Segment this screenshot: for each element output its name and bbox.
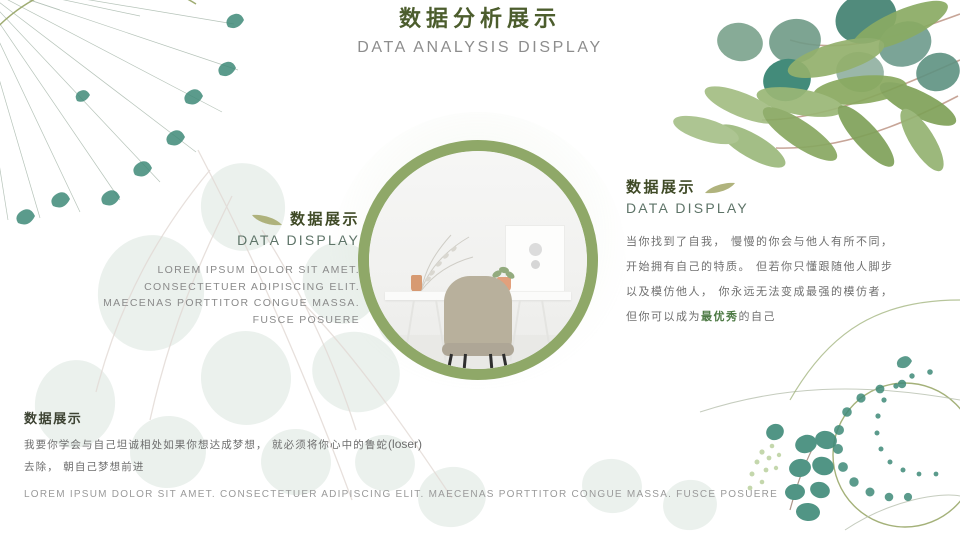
left-heading-row: 数据展示 [100,210,360,230]
right-heading-row: 数据展示 [626,178,936,198]
right-body-text: 当你找到了自我， 慢慢的你会与他人有所不同， 开始拥有自己的特质。 但若你只懂跟… [626,229,936,329]
left-body-line: CONSECTETUER ADIPISCING ELIT. [100,279,360,296]
bottom-body-text: 我要你学会与自己坦诚相处如果你想达成梦想， 就必须将你心中的鲁蛇(loser) … [24,433,584,478]
terracotta-vase [411,275,422,292]
right-body-line: 开始拥有自己的特质。 但若你只懂跟随他人脚步 [626,254,936,279]
photo-scene [369,151,587,369]
left-body-line: LOREM IPSUM DOLOR SIT AMET. [100,262,360,279]
right-heading-chinese: 数据展示 [626,178,696,198]
title-chinese: 数据分析展示 [0,6,960,34]
bottom-body-line-1: 我要你学会与自己坦诚相处如果你想达成梦想， 就必须将你心中的鲁蛇(loser) [24,433,584,456]
slide-title: 数据分析展示 DATA ANALYSIS DISPLAY [0,6,960,57]
bottom-heading-chinese: 数据展示 [24,408,584,427]
left-text-block: 数据展示 DATA DISPLAY LOREM IPSUM DOLOR SIT … [100,210,360,328]
frame-dot-large [529,243,542,256]
right-text-block: 数据展示 DATA DISPLAY 当你找到了自我， 慢慢的你会与他人有所不同，… [626,178,936,329]
bottom-body-line-2: 去除， 朝自己梦想前进 [24,456,584,478]
small-eucalyptus-sprig [748,421,839,522]
left-body-line: FUSCE POSUERE [100,312,360,329]
left-heading-chinese: 数据展示 [290,210,360,230]
frame-dot-small [531,260,540,269]
right-heading-english: DATA DISPLAY [626,199,936,218]
slide-canvas: 数据分析展示 DATA ANALYSIS DISPLAY 数据展示 DATA D… [0,0,960,540]
leaf-accent-icon [703,180,737,196]
left-heading-english: DATA DISPLAY [100,231,360,250]
left-body-text: LOREM IPSUM DOLOR SIT AMET. CONSECTETUER… [100,262,360,328]
last-line-highlight: 最优秀 [701,310,739,323]
title-english: DATA ANALYSIS DISPLAY [0,38,960,57]
right-body-line-last: 但你可以成为最优秀的自己 [626,304,936,329]
footer-text: LOREM IPSUM DOLOR SIT AMET. CONSECTETUER… [24,488,924,502]
left-body-line: MAECENAS PORTTITOR CONGUE MASSA. [100,295,360,312]
center-circular-photo[interactable] [358,140,598,380]
right-body-line: 以及模仿他人， 你永远无法变成最强的模仿者， [626,279,936,304]
bottom-line1-latin: (loser) [388,437,422,451]
bottom-left-text-block: 数据展示 我要你学会与自己坦诚相处如果你想达成梦想， 就必须将你心中的鲁蛇(lo… [24,408,584,478]
right-body-line: 当你找到了自我， 慢慢的你会与他人有所不同， [626,229,936,254]
last-line-prefix: 但你可以成为 [626,310,701,323]
last-line-suffix: 的自己 [739,310,777,323]
leaf-accent-icon [250,212,284,228]
bottom-line1-prefix: 我要你学会与自己坦诚相处如果你想达成梦想， 就必须将你心中的鲁蛇 [24,439,388,451]
